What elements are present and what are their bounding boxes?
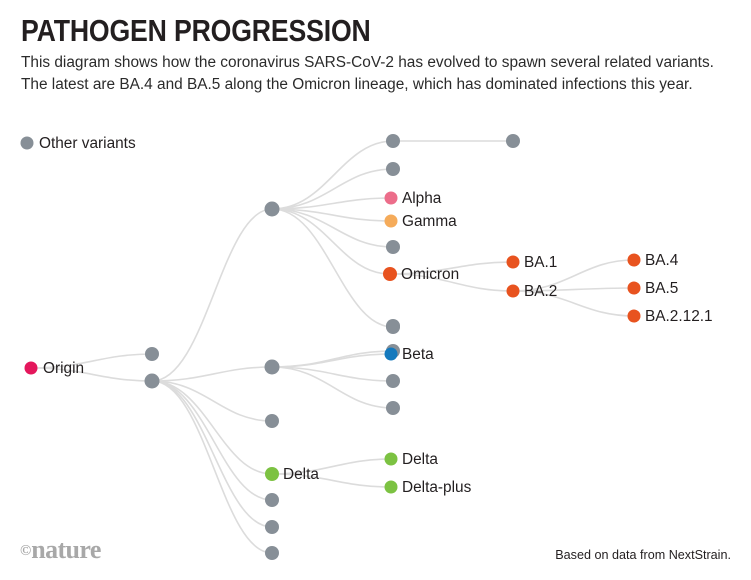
tree-branch	[152, 209, 272, 381]
tree-node-label-ba4: BA.4	[645, 252, 679, 269]
tree-node-label-delta-hub: Delta	[283, 466, 319, 483]
tree-node-ba2[interactable]	[507, 285, 520, 298]
tree-node-label-ba2121: BA.2.12.1	[645, 308, 713, 325]
tree-node-legend-other[interactable]	[21, 137, 34, 150]
copyright-icon: ©	[20, 543, 31, 559]
tree-node-alpha[interactable]	[385, 192, 398, 205]
tree-node-label-ba2: BA.2	[524, 283, 557, 300]
tree-node-trunk[interactable]	[145, 374, 160, 389]
tree-node-omicron[interactable]	[383, 267, 397, 281]
tree-branch	[152, 381, 272, 527]
tree-edges	[31, 141, 634, 553]
tree-node-delta-leaf[interactable]	[385, 453, 398, 466]
tree-node-origin[interactable]	[25, 362, 38, 375]
tree-node-ba4[interactable]	[628, 254, 641, 267]
tree-node-label-alpha: Alpha	[402, 190, 442, 207]
phylogenetic-tree-diagram: Other variantsOriginDeltaAlphaGammaOmicr…	[0, 0, 751, 580]
tree-branch	[152, 381, 272, 474]
tree-node-label-origin: Origin	[43, 360, 84, 377]
tree-node-label-delta-leaf: Delta	[402, 451, 438, 468]
tree-node-ba5[interactable]	[628, 282, 641, 295]
tree-node-u-grey-1[interactable]	[386, 134, 400, 148]
nature-wordmark: nature	[31, 535, 101, 564]
tree-node-n-bot-3[interactable]	[265, 546, 279, 560]
tree-node-delta-hub[interactable]	[265, 467, 279, 481]
tree-node-beta[interactable]	[385, 348, 398, 361]
tree-branch	[152, 381, 272, 500]
tree-branch	[272, 354, 391, 367]
tree-node-n-bot-2[interactable]	[265, 520, 279, 534]
tree-node-label-beta: Beta	[402, 346, 434, 363]
tree-node-label-gamma: Gamma	[402, 213, 457, 230]
tree-node-b-grey-1[interactable]	[386, 319, 400, 333]
nature-logo: ©nature	[20, 537, 101, 564]
source-credit: Based on data from NextStrain.	[555, 548, 731, 562]
tree-node-u-grey-3[interactable]	[386, 240, 400, 254]
tree-node-n-mid-grey[interactable]	[265, 414, 279, 428]
tree-branch	[152, 381, 272, 553]
tree-branch	[272, 351, 393, 367]
tree-node-u-grey-2[interactable]	[386, 162, 400, 176]
tree-node-n-bot-1[interactable]	[265, 493, 279, 507]
tree-node-hub-upper[interactable]	[265, 202, 280, 217]
tree-svg: Other variantsOriginDeltaAlphaGammaOmicr…	[0, 0, 751, 580]
tree-node-gamma[interactable]	[385, 215, 398, 228]
tree-node-ba2121[interactable]	[628, 310, 641, 323]
tree-node-label-ba1: BA.1	[524, 254, 557, 271]
tree-node-n-upper-stub[interactable]	[145, 347, 159, 361]
tree-node-label-omicron: Omicron	[401, 266, 459, 283]
tree-node-label-ba5: BA.5	[645, 280, 678, 297]
tree-nodes: Other variantsOriginDeltaAlphaGammaOmicr…	[21, 134, 713, 560]
tree-node-b-grey-4[interactable]	[386, 401, 400, 415]
tree-node-hub-beta[interactable]	[265, 360, 280, 375]
tree-node-far-grey-top[interactable]	[506, 134, 520, 148]
tree-node-label-legend-other: Other variants	[39, 135, 136, 152]
tree-node-ba1[interactable]	[507, 256, 520, 269]
tree-node-deltaplus-leaf[interactable]	[385, 481, 398, 494]
tree-node-b-grey-3[interactable]	[386, 374, 400, 388]
tree-node-label-deltaplus-leaf: Delta-plus	[402, 479, 472, 496]
